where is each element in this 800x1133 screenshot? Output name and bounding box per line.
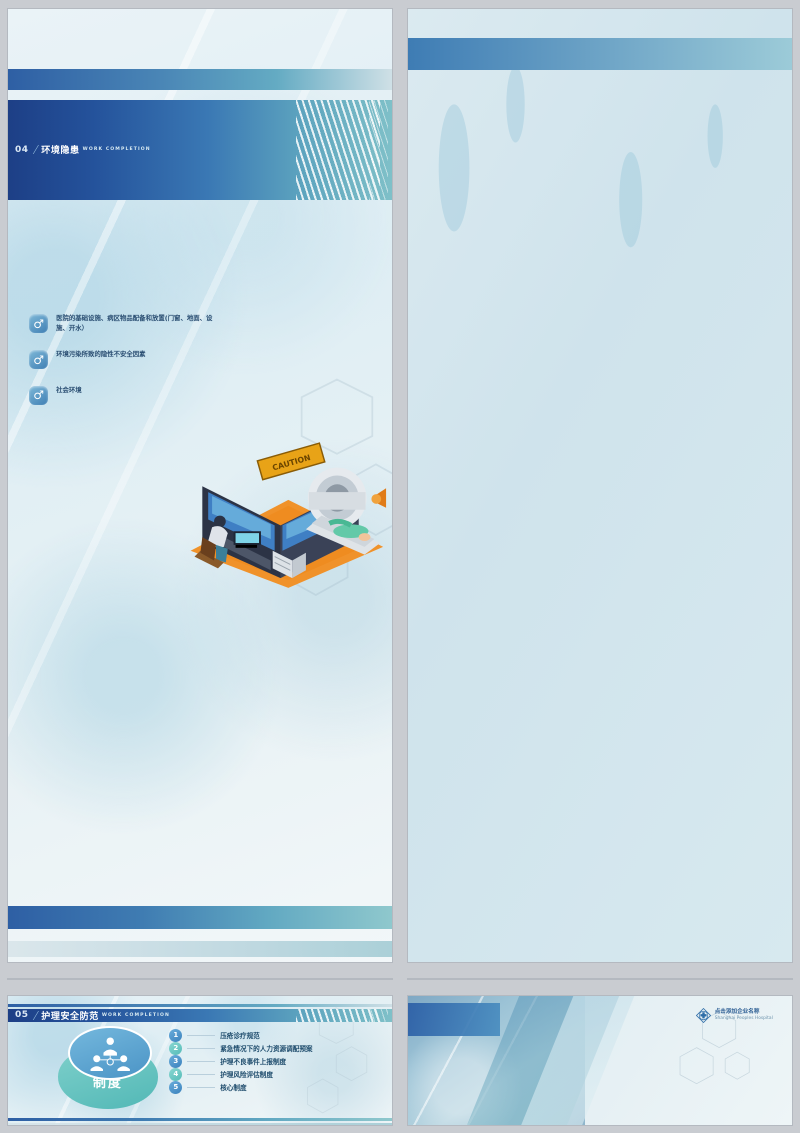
bottom-accent-line — [8, 906, 392, 929]
connector-line — [187, 1074, 215, 1075]
hospital-logo: 点击添加企业名称 Shanghai Peoples Hospital — [696, 1008, 773, 1023]
logo-name-cn: 点击添加企业名称 — [715, 1009, 773, 1017]
bottom-accent-line-2 — [8, 941, 392, 956]
header-slash-icon: / — [32, 1009, 39, 1022]
ct-scanner-illustration: CAUTION — [173, 200, 388, 829]
top-accent-line — [8, 1004, 392, 1007]
slide-cell-6[interactable]: 点击添加企业名称 Shanghai Peoples Hospital 大医精诚，… — [400, 987, 800, 1133]
slide-section-divider[interactable]: 第五部分 护理安全防范 ●单击此处添加名称●单击此处添加名称 ●单击此处添加名称… — [408, 9, 792, 962]
header-title-cn: 护理安全防范 — [41, 1009, 99, 1022]
list-number: 4 — [169, 1068, 182, 1081]
numbered-list: 1 压疮诊疗规范 2 紧急情况下的人力资源调配预案 3 护理不良事件上报制度 4 — [169, 1029, 384, 1094]
bottom-accent-line-2 — [8, 1123, 392, 1125]
team-icon-circle — [68, 1026, 153, 1080]
list-number: 2 — [169, 1042, 182, 1055]
list-item[interactable]: 5 核心制度 — [169, 1081, 384, 1094]
header-stripes-decoration-2 — [369, 100, 388, 200]
list-item[interactable]: 3 护理不良事件上报制度 — [169, 1055, 384, 1068]
list-text: 压疮诊疗规范 — [220, 1030, 260, 1040]
header-stripes-decoration — [296, 100, 380, 200]
list-item[interactable]: 2 紧急情况下的人力资源调配预案 — [169, 1042, 384, 1055]
slide-environment-hazards[interactable]: 04 / 环境隐患 WORK COMPLETION ♂ 医院的基础设施、病区物品… — [8, 9, 392, 962]
connector-line — [187, 1035, 215, 1036]
slide-background — [408, 9, 792, 962]
logo-name-en: Shanghai Peoples Hospital — [715, 1016, 773, 1022]
top-accent-line — [8, 69, 392, 90]
team-icon — [82, 1036, 138, 1071]
list-text: 护理风险评估制度 — [220, 1069, 273, 1079]
header-title-en: WORK COMPLETION — [102, 1013, 170, 1018]
slide-header-bar: 04 / 环境隐患 WORK COMPLETION — [8, 100, 392, 200]
slide-thanks[interactable]: 点击添加企业名称 Shanghai Peoples Hospital 大医精诚，… — [408, 996, 792, 1125]
connector-line — [187, 1061, 215, 1062]
list-item[interactable]: 1 压疮诊疗规范 — [169, 1029, 384, 1042]
mars-icon: ♂ — [29, 350, 48, 369]
bottom-accent-line — [8, 1118, 392, 1121]
slide-cell-3[interactable]: 05 / 护理安全防范 WORK COMPLETION 最为重要的还是护理人员严… — [0, 970, 400, 987]
slide-cell-4[interactable]: 05 / 护理安全防范 WORK COMPLETION 法律法规 — [400, 970, 800, 987]
header-title-en: WORK COMPLETION — [83, 147, 151, 152]
connector-line — [187, 1048, 215, 1049]
slide-cell-1[interactable]: 04 / 环境隐患 WORK COMPLETION ♂ 医院的基础设施、病区物品… — [0, 0, 400, 970]
slide-header-bar: 05 / 护理安全防范 WORK COMPLETION — [8, 1009, 392, 1023]
list-number: 5 — [169, 1081, 182, 1094]
header-stripes-decoration-2 — [369, 1009, 388, 1023]
list-item[interactable]: 4 护理风险评估制度 — [169, 1068, 384, 1081]
list-text: 紧急情况下的人力资源调配预案 — [220, 1043, 312, 1053]
hospital-cross-icon — [696, 1008, 711, 1023]
list-text: 护理不良事件上报制度 — [220, 1056, 286, 1066]
slide-number: 05 — [15, 1010, 29, 1020]
connector-line — [187, 1087, 215, 1088]
list-number: 1 — [169, 1029, 182, 1042]
slide-number: 04 — [15, 145, 29, 155]
header-title-cn: 环境隐患 — [41, 143, 79, 156]
header-stripes-decoration — [296, 1009, 380, 1023]
slide-thumbnail-grid: 04 / 环境隐患 WORK COMPLETION ♂ 医院的基础设施、病区物品… — [0, 0, 800, 673]
mars-icon: ♂ — [29, 386, 48, 405]
molecule-decoration — [408, 9, 792, 962]
list-text: 核心制度 — [220, 1082, 246, 1092]
slide-cell-5[interactable]: 05 / 护理安全防范 WORK COMPLETION 规章 制度 — [0, 987, 400, 1133]
slide-rules-systems[interactable]: 05 / 护理安全防范 WORK COMPLETION 规章 制度 — [8, 996, 392, 1125]
header-slash-icon: / — [32, 143, 39, 156]
list-number: 3 — [169, 1055, 182, 1068]
bullet-text: 环境污染所致的隐性不安全因素 — [56, 350, 145, 360]
top-accent-line — [408, 38, 792, 70]
bullet-text: 社会环境 — [56, 386, 82, 396]
mars-icon: ♂ — [29, 314, 48, 333]
slide-cell-2[interactable]: 第五部分 护理安全防范 ●单击此处添加名称●单击此处添加名称 ●单击此处添加名称… — [400, 0, 800, 970]
navy-accent-block — [408, 1003, 500, 1037]
